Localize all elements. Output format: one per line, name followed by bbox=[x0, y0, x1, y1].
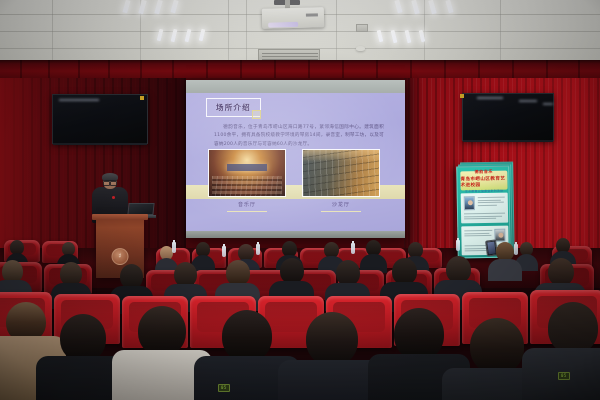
salon-hall-photo bbox=[303, 150, 379, 196]
wall-mounted-display-left bbox=[52, 94, 148, 144]
slide-image-caption: 沙龙厅 bbox=[302, 201, 380, 208]
screen-top-margin bbox=[186, 80, 405, 93]
concert-hall-seats bbox=[212, 176, 282, 196]
poster-text-lines bbox=[464, 213, 505, 221]
seat-number-plate: 05 bbox=[218, 384, 230, 392]
presenter-badge bbox=[112, 196, 115, 199]
water-bottle bbox=[351, 243, 355, 254]
phone-screen bbox=[487, 242, 495, 255]
lecture-hall-photo: 场所介绍 德韵音乐，位于青岛市崂山区海口路77号，紧邻海信国际中心。建筑面积11… bbox=[0, 0, 600, 400]
projector-brand-plate bbox=[306, 13, 318, 16]
presentation-slide: 场所介绍 德韵音乐，位于青岛市崂山区海口路77号，紧邻海信国际中心。建筑面积11… bbox=[186, 93, 405, 231]
water-bottle bbox=[514, 244, 518, 255]
projection-screen: 场所介绍 德韵音乐，位于青岛市崂山区海口路77号，紧邻海信国际中心。建筑面积11… bbox=[186, 80, 405, 238]
ceiling bbox=[0, 0, 600, 62]
poster-headline: 德韵音乐 青岛市崂山区教育艺术进校园 艺术教育公益课堂系列活动 bbox=[460, 171, 507, 191]
ceiling-light-group bbox=[396, 0, 466, 16]
poster-text-lines bbox=[478, 197, 505, 208]
wall-bracket-left bbox=[140, 96, 144, 100]
audience-seating-area: 03 03 bbox=[0, 236, 600, 400]
water-bottle bbox=[256, 244, 260, 255]
slide-image-salon-hall bbox=[302, 149, 380, 197]
slide-image-caption: 音乐厅 bbox=[208, 201, 286, 208]
caption-underline bbox=[321, 211, 361, 212]
poster-card bbox=[461, 193, 509, 224]
slide-image-concert-hall bbox=[208, 149, 286, 197]
ceiling-projector bbox=[262, 7, 325, 29]
poster-portrait-photo bbox=[464, 196, 475, 210]
poster-headline-line2: 青岛市崂山区教育艺术进校园 bbox=[460, 175, 507, 188]
slide-body-content: 德韵音乐，位于青岛市崂山区海口路77号，紧邻海信国际中心。建筑面积1100余平，… bbox=[214, 125, 384, 147]
water-bottle bbox=[456, 240, 460, 251]
ceiling-light-group bbox=[378, 30, 434, 46]
slide-title-accent-square bbox=[252, 110, 261, 119]
caption-underline bbox=[227, 211, 267, 212]
smoke-detector-icon bbox=[356, 46, 365, 51]
salon-hall-structure bbox=[303, 150, 379, 196]
ceiling-light-group bbox=[124, 0, 190, 16]
water-bottle bbox=[222, 246, 226, 257]
poster-headline-line1: 德韵音乐 bbox=[475, 168, 494, 174]
seat-number-plate: 05 bbox=[558, 372, 570, 380]
projector-lens bbox=[268, 22, 298, 28]
concert-hall-stage bbox=[227, 164, 267, 171]
water-bottle bbox=[172, 242, 176, 253]
slide-body-text: 德韵音乐，位于青岛市崂山区海口路77号，紧邻海信国际中心。建筑面积1100余平，… bbox=[214, 124, 384, 149]
ceiling-speaker bbox=[356, 24, 368, 32]
glasses-icon bbox=[103, 180, 117, 183]
wall-mounted-display-right bbox=[462, 93, 554, 141]
podium-top-surface bbox=[92, 214, 148, 220]
wall-bracket-right bbox=[460, 94, 464, 98]
ceiling-light-group bbox=[158, 29, 214, 45]
concert-hall-photo bbox=[209, 150, 285, 196]
